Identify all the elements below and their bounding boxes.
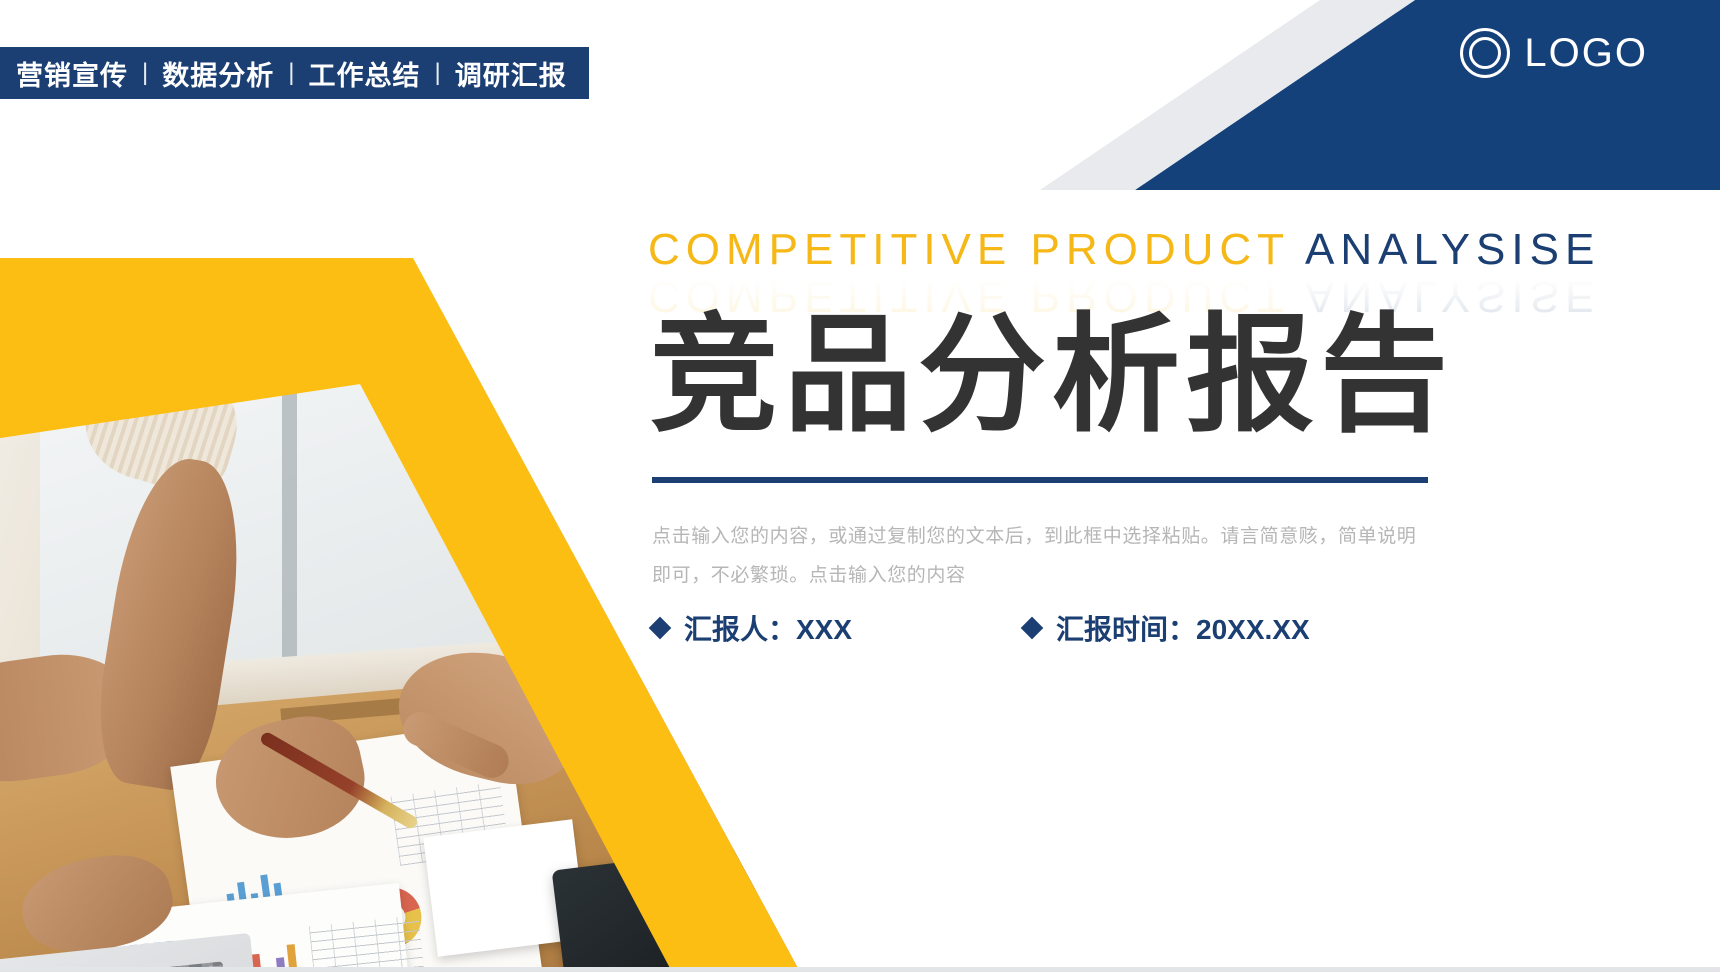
nav-item-marketing[interactable]: 营销宣传 <box>16 54 128 93</box>
description-line-2: 即可，不必繁琐。点击输入您的内容 <box>652 565 966 586</box>
nav-item-research-report[interactable]: 调研汇报 <box>455 54 567 93</box>
date-label: 汇报时间：20XX.XX <box>1056 608 1310 648</box>
nav-separator-1: | <box>128 59 162 87</box>
description-paragraph: 点击输入您的内容，或通过复制您的文本后，到此框中选择粘贴。请言简意赅，简单说明 … <box>652 518 1442 596</box>
english-title-part1: COMPETITIVE PRODUCT <box>648 225 1305 274</box>
nav-item-data-analysis[interactable]: 数据分析 <box>162 54 274 93</box>
description-line-1: 点击输入您的内容，或通过复制您的文本后，到此框中选择粘贴。请言简意赅，简单说明 <box>652 526 1416 547</box>
logo-text: LOGO <box>1524 31 1648 76</box>
meta-row: 汇报人：XXX 汇报时间：20XX.XX <box>652 608 1310 648</box>
title-content-area: COMPETITIVE PRODUCT ANALYSISE COMPETITIV… <box>648 0 1658 972</box>
page-title: 竞品分析报告 <box>650 300 1454 451</box>
english-title-part2: ANALYSISE <box>1305 225 1600 274</box>
photo-paper2-table <box>309 915 426 972</box>
nav-separator-3: | <box>420 59 454 87</box>
date-field: 汇报时间：20XX.XX <box>1024 608 1310 648</box>
nav-separator-2: | <box>274 59 308 87</box>
english-title: COMPETITIVE PRODUCT ANALYSISE <box>648 228 1600 272</box>
logo[interactable]: LOGO <box>1460 28 1648 78</box>
nav-item-work-summary[interactable]: 工作总结 <box>308 54 420 93</box>
diamond-bullet-icon <box>1021 617 1044 640</box>
presenter-label: 汇报人：XXX <box>684 608 852 648</box>
diamond-bullet-icon <box>649 617 672 640</box>
bottom-hairline <box>0 967 1720 972</box>
presenter-field: 汇报人：XXX <box>652 608 852 648</box>
slide-canvas: 营销宣传 | 数据分析 | 工作总结 | 调研汇报 LOGO <box>0 0 1720 972</box>
category-nav-bar[interactable]: 营销宣传 | 数据分析 | 工作总结 | 调研汇报 <box>0 47 589 99</box>
photo-window-mullion <box>282 268 297 688</box>
title-divider <box>652 477 1428 483</box>
concentric-circle-logo-icon <box>1460 28 1510 78</box>
